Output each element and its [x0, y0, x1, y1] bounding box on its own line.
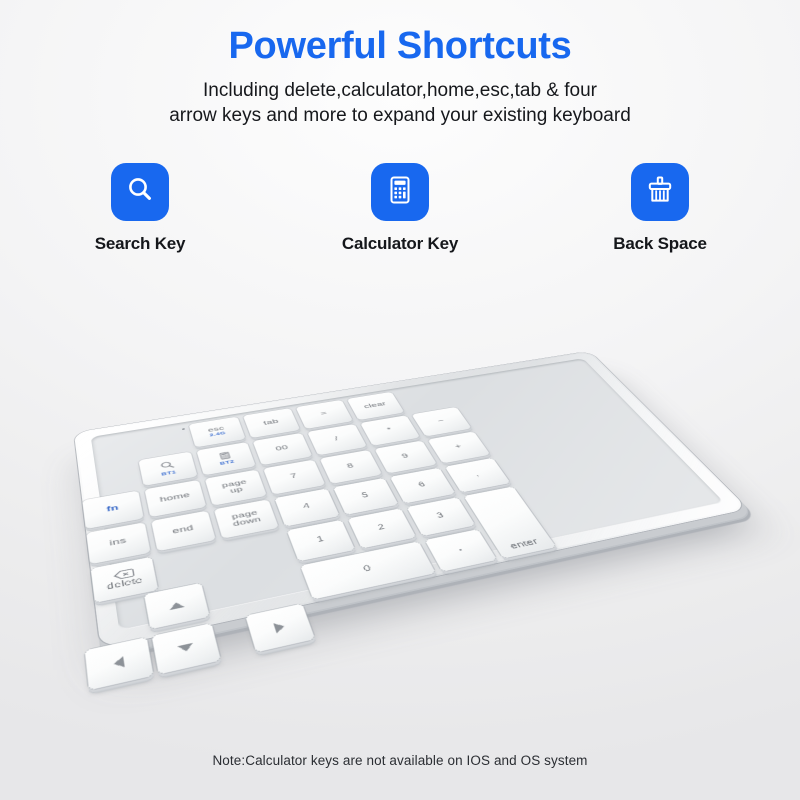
key-comma[interactable]: , — [445, 458, 511, 493]
keypad-body-3d: esc 2.4G tab = clear BT1 — [74, 351, 748, 649]
search-icon-tile — [111, 163, 169, 221]
key-multiply[interactable]: * — [360, 415, 420, 446]
key-9[interactable]: 9 — [374, 440, 437, 473]
product-photo-numeric-keypad: esc 2.4G tab = clear BT1 — [0, 268, 800, 738]
search-icon — [123, 173, 157, 212]
key-label: home — [159, 492, 191, 504]
subtitle-line-1: Including delete,calculator,home,esc,tab… — [100, 78, 700, 103]
key-enter[interactable]: enter — [464, 486, 557, 558]
key-label: 6 — [417, 481, 427, 489]
arrow-down-icon — [177, 643, 194, 653]
key-label: ins — [109, 537, 127, 548]
key-label: 9 — [401, 453, 410, 460]
key-label: 0 — [362, 565, 373, 574]
broom-icon — [643, 173, 677, 212]
subtitle-line-2: arrow keys and more to expand your exist… — [100, 103, 700, 128]
arrow-left-icon — [113, 656, 125, 669]
header: Powerful Shortcuts Including delete,calc… — [0, 26, 800, 129]
arrow-right-icon — [273, 621, 286, 633]
feature-back-space: Back Space — [585, 163, 735, 254]
key-6[interactable]: 6 — [390, 468, 456, 504]
key-label: * — [386, 427, 393, 433]
key-1[interactable]: 1 — [287, 520, 356, 562]
calculator-icon — [217, 451, 234, 462]
key-label-2: up — [229, 486, 244, 495]
key-label: − — [437, 418, 446, 424]
page-subtitle: Including delete,calculator,home,esc,tab… — [100, 78, 700, 129]
key-label: clear — [363, 401, 388, 410]
key-sublabel: BT1 — [161, 470, 177, 477]
calculator-icon — [383, 173, 417, 212]
feature-label: Search Key — [95, 234, 186, 254]
key-label: 7 — [290, 473, 299, 480]
footer-note: Note:Calculator keys are not available o… — [0, 753, 800, 768]
key-3[interactable]: 3 — [407, 497, 476, 536]
broom-icon-tile — [631, 163, 689, 221]
feature-calculator-key: Calculator Key — [325, 163, 475, 254]
key-esc[interactable]: esc 2.4G — [189, 417, 246, 448]
key-label: , — [474, 471, 481, 478]
key-label: = — [320, 411, 329, 417]
feature-label: Calculator Key — [342, 234, 458, 254]
key-label: 5 — [361, 492, 371, 500]
key-label: 1 — [316, 536, 326, 545]
period-glyph — [459, 549, 463, 551]
key-label: 00 — [275, 445, 290, 453]
page-title: Powerful Shortcuts — [0, 26, 800, 68]
key-arrow-left[interactable] — [85, 637, 154, 690]
key-end[interactable]: end — [151, 511, 216, 552]
key-page-down[interactable]: page down — [214, 499, 279, 538]
key-label: / — [334, 436, 340, 442]
arrow-up-icon — [169, 601, 185, 610]
key-label: fn — [106, 505, 119, 514]
feature-search-key: Search Key — [65, 163, 215, 254]
key-label: + — [454, 444, 464, 451]
key-label: 4 — [302, 503, 311, 511]
key-label: end — [172, 525, 195, 536]
feature-list: Search Key — [0, 163, 800, 254]
calculator-icon-tile — [371, 163, 429, 221]
feature-label: Back Space — [613, 234, 706, 254]
key-minus[interactable]: − — [411, 407, 471, 437]
